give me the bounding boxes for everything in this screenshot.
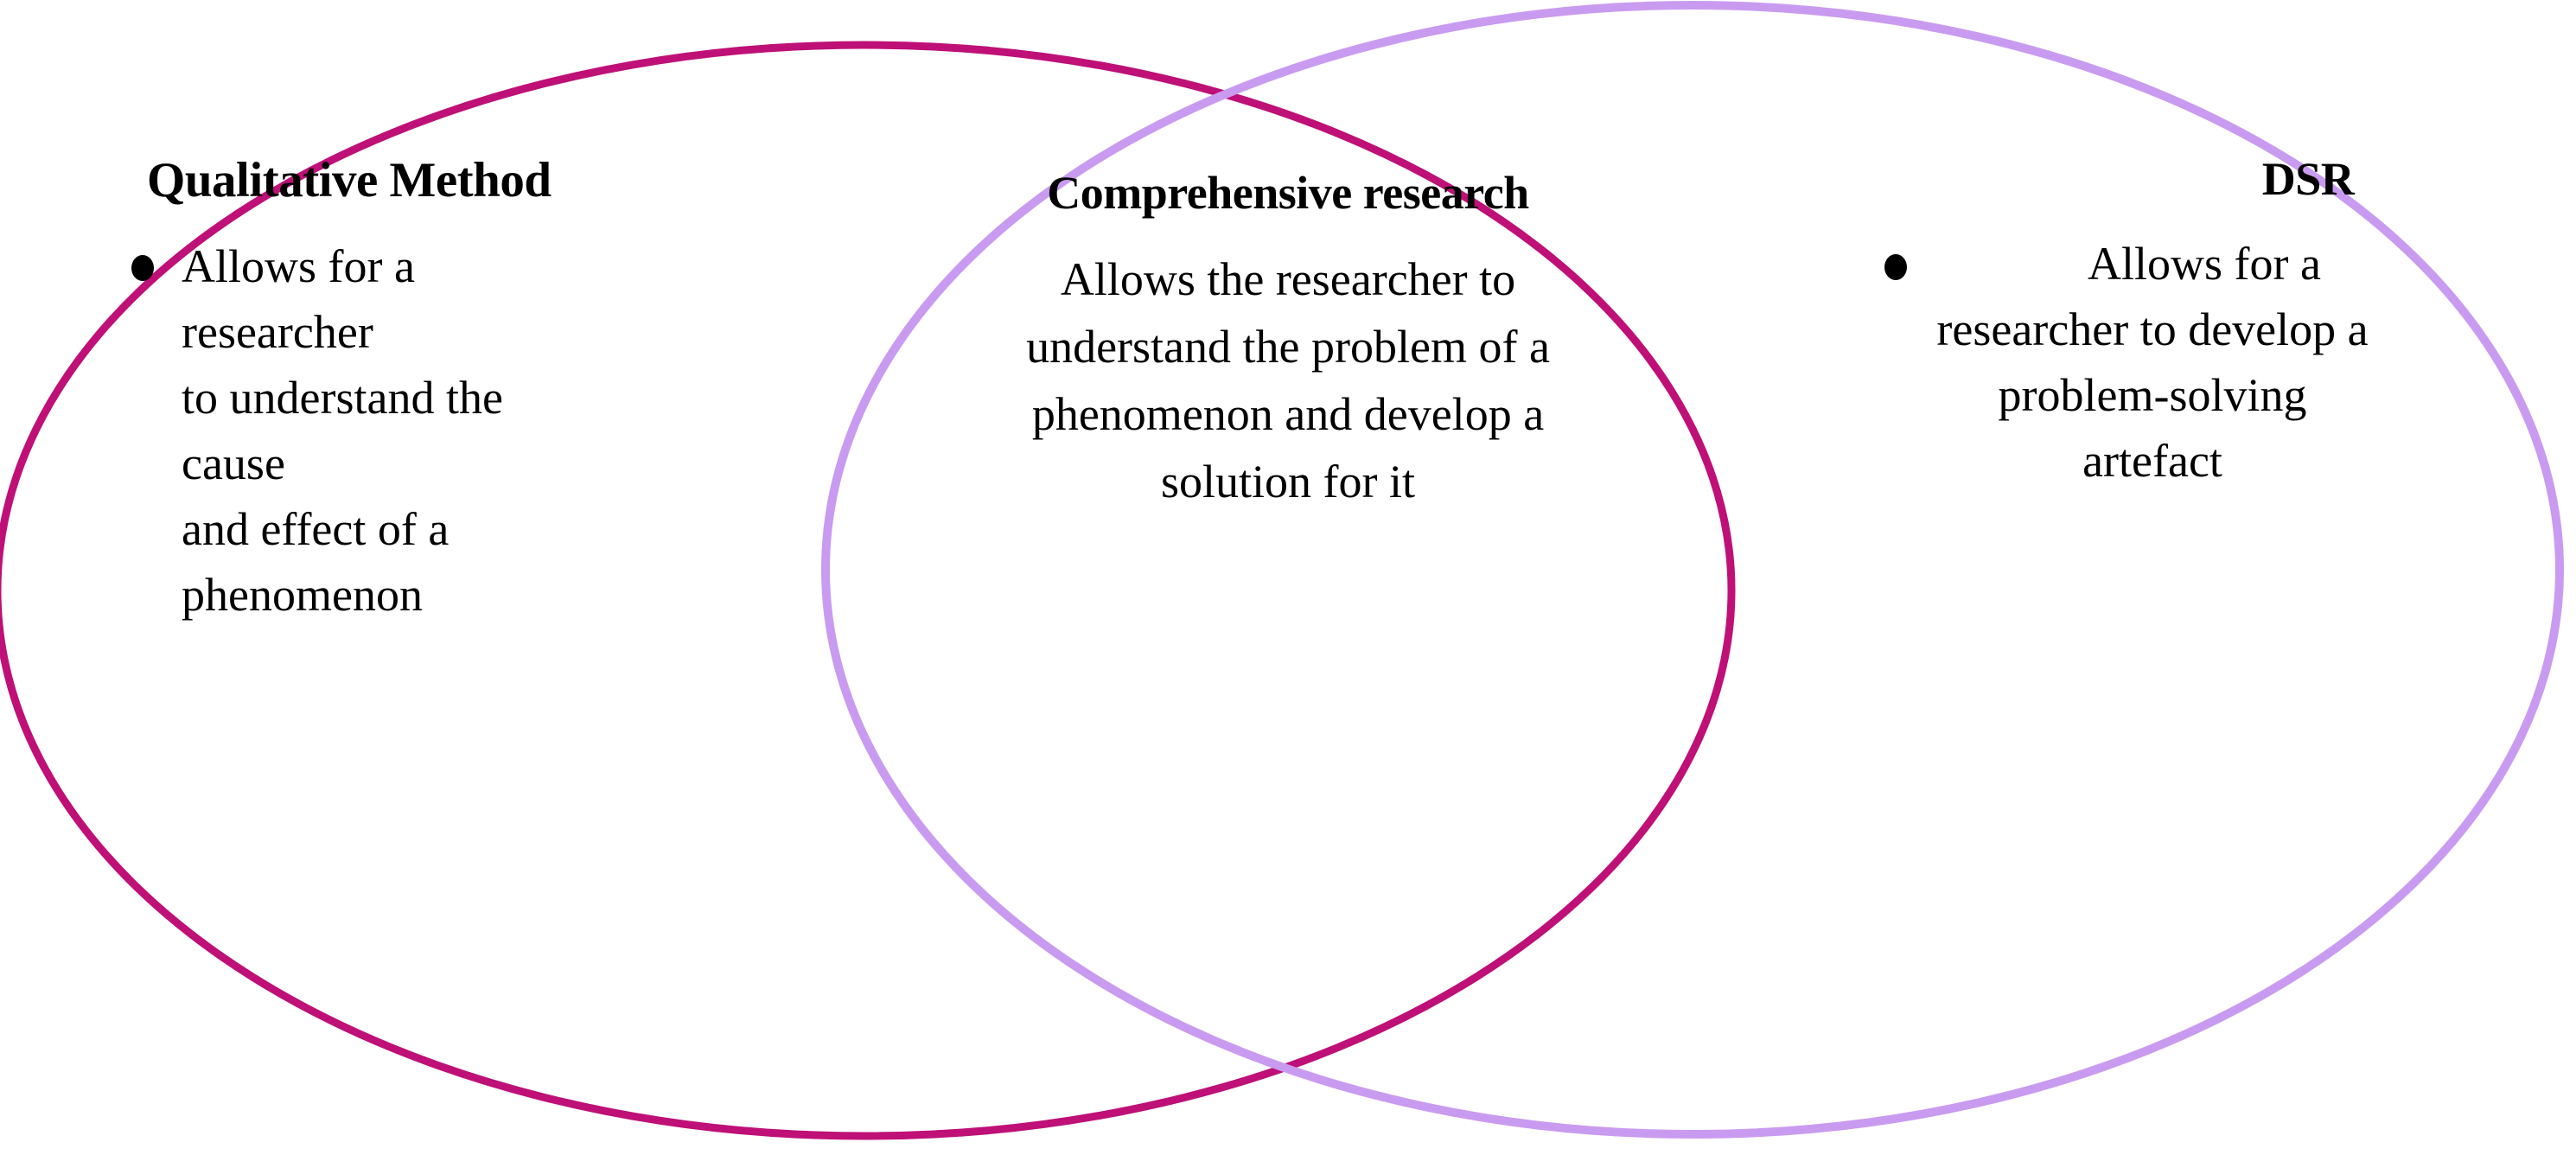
intersection-line: phenomenon and develop a [873, 391, 1703, 437]
intersection-line: Allows the researcher to [873, 256, 1703, 303]
intersection-paragraph: Allows the researcher to understand the … [873, 256, 1703, 505]
venn-diagram-canvas: Qualitative Method Allows for a research… [0, 0, 2576, 1155]
bullet-dot-icon [1884, 254, 1907, 280]
right-set-bullet-list: Allows for a researcher to develop a pro… [1746, 240, 2559, 484]
left-set-line: cause [182, 440, 882, 487]
right-set-line: artefact [1746, 437, 2559, 484]
intersection-line: solution for it [873, 458, 1703, 505]
right-set-region: DSR Allows for a researcher to develop a… [1746, 156, 2559, 503]
left-set-bullet-list: Allows for a researcher to understand th… [78, 243, 882, 618]
right-set-line: researcher to develop a [1746, 306, 2559, 353]
left-set-line: and effect of a [182, 506, 882, 552]
left-set-heading: Qualitative Method [78, 156, 882, 205]
right-set-line: Allows for a [1746, 240, 2559, 287]
intersection-heading: Comprehensive research [873, 169, 1703, 216]
right-set-line: problem-solving [1746, 372, 2559, 418]
intersection-line: understand the problem of a [873, 323, 1703, 370]
right-set-heading: DSR [1746, 156, 2559, 202]
venn-text-layer: Qualitative Method Allows for a research… [0, 0, 2576, 1155]
left-set-line: Allows for a [182, 243, 882, 290]
bullet-dot-icon [131, 255, 154, 281]
left-set-line: phenomenon [182, 571, 882, 618]
left-set-line: researcher [182, 309, 882, 355]
intersection-region: Comprehensive research Allows the resear… [873, 169, 1703, 526]
left-set-line: to understand the [182, 374, 882, 421]
left-set-region: Qualitative Method Allows for a research… [78, 156, 882, 637]
